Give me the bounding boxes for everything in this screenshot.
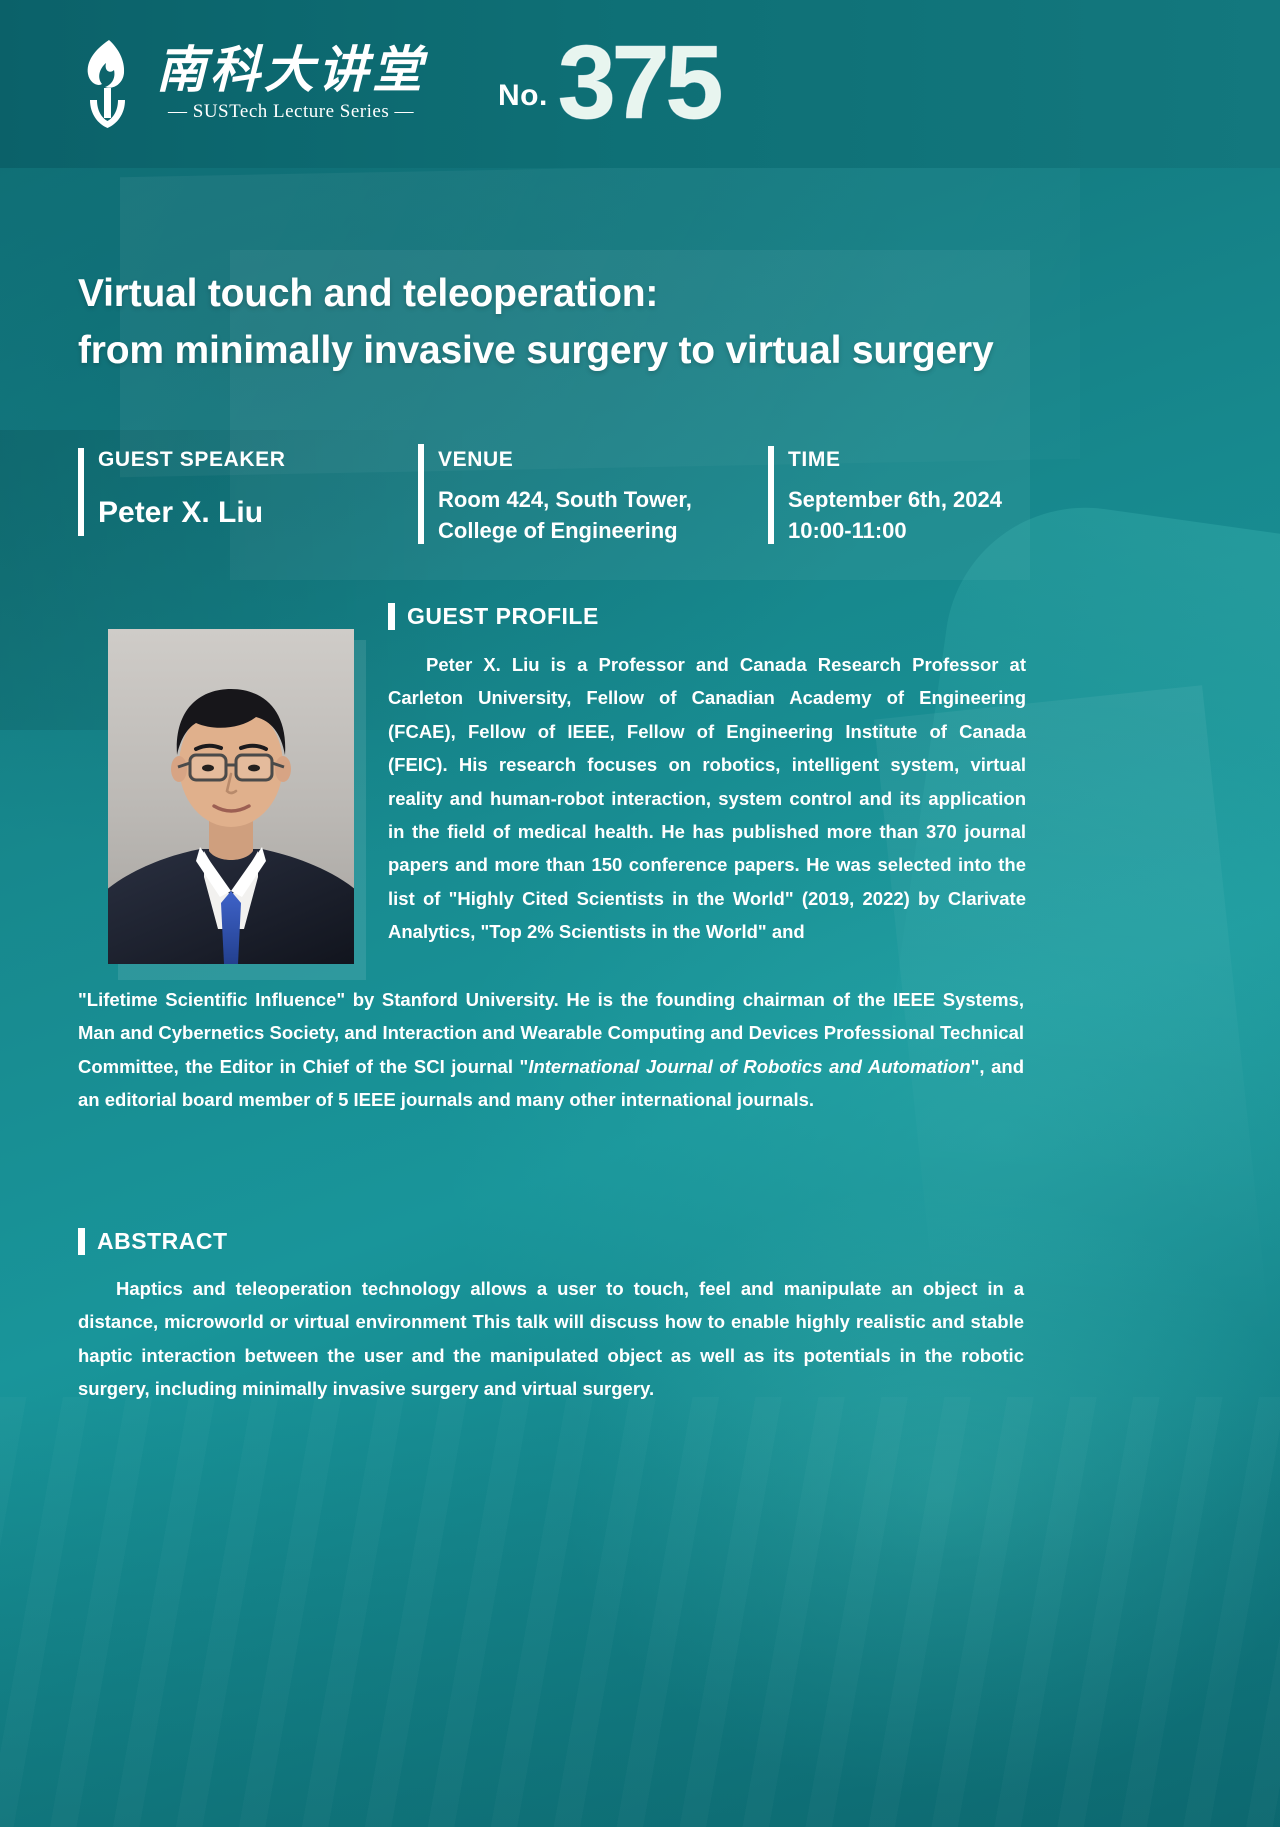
profile-part-1: Peter X. Liu is a Professor and Canada R… bbox=[388, 654, 1026, 942]
torch-logo-icon bbox=[76, 38, 140, 130]
journal-name: International Journal of Robotics and Au… bbox=[528, 1056, 970, 1077]
logo-english-subtitle: — SUSTech Lecture Series — bbox=[168, 101, 414, 123]
brand-lockup: 南科大讲堂 — SUSTech Lecture Series — bbox=[76, 38, 426, 130]
accent-bar bbox=[78, 1228, 85, 1255]
venue-line-2: College of Engineering bbox=[438, 515, 692, 546]
issue-badge: No. 375 bbox=[498, 39, 719, 128]
accent-bar bbox=[768, 446, 774, 544]
abstract-body: Haptics and teleoperation technology all… bbox=[78, 1278, 1024, 1399]
accent-bar bbox=[388, 603, 395, 630]
logo-chinese-title: 南科大讲堂 bbox=[156, 45, 426, 95]
meta-time: TIME September 6th, 2024 10:00-11:00 bbox=[768, 438, 1088, 546]
speaker-label: GUEST SPEAKER bbox=[98, 448, 286, 472]
venue-label: VENUE bbox=[438, 448, 692, 472]
background-stripes bbox=[0, 1397, 1280, 1827]
time-date: September 6th, 2024 bbox=[788, 484, 1002, 515]
abstract-heading: ABSTRACT bbox=[78, 1228, 228, 1255]
guest-profile-paragraph-2: "Lifetime Scientific Influence" by Stanf… bbox=[78, 983, 1024, 1117]
title-line-1: Virtual touch and teleoperation: bbox=[78, 265, 1098, 322]
time-label: TIME bbox=[788, 448, 1002, 472]
issue-no-label: No. bbox=[498, 79, 548, 113]
meta-venue: VENUE Room 424, South Tower, College of … bbox=[418, 438, 768, 546]
abstract-paragraph: Haptics and teleoperation technology all… bbox=[78, 1272, 1024, 1406]
guest-profile-heading: GUEST PROFILE bbox=[388, 603, 599, 630]
time-range: 10:00-11:00 bbox=[788, 515, 1002, 546]
guest-profile-paragraph-1: Peter X. Liu is a Professor and Canada R… bbox=[388, 648, 1026, 949]
speaker-portrait bbox=[108, 629, 354, 964]
lecture-meta-row: GUEST SPEAKER Peter X. Liu VENUE Room 42… bbox=[78, 438, 1098, 546]
lecture-poster: 南科大讲堂 — SUSTech Lecture Series — No. 375… bbox=[0, 0, 1280, 1827]
issue-number: 375 bbox=[558, 39, 720, 128]
lecture-title: Virtual touch and teleoperation: from mi… bbox=[78, 265, 1098, 379]
accent-bar bbox=[78, 448, 84, 536]
guest-profile-title: GUEST PROFILE bbox=[407, 603, 599, 630]
speaker-name: Peter X. Liu bbox=[98, 496, 286, 530]
wordmark: 南科大讲堂 — SUSTech Lecture Series — bbox=[156, 45, 426, 123]
abstract-title: ABSTRACT bbox=[97, 1228, 228, 1255]
title-line-2: from minimally invasive surgery to virtu… bbox=[78, 322, 1098, 379]
accent-bar bbox=[418, 444, 424, 544]
meta-speaker: GUEST SPEAKER Peter X. Liu bbox=[78, 438, 418, 546]
venue-line-1: Room 424, South Tower, bbox=[438, 484, 692, 515]
poster-header: 南科大讲堂 — SUSTech Lecture Series — No. 375 bbox=[0, 0, 1280, 168]
